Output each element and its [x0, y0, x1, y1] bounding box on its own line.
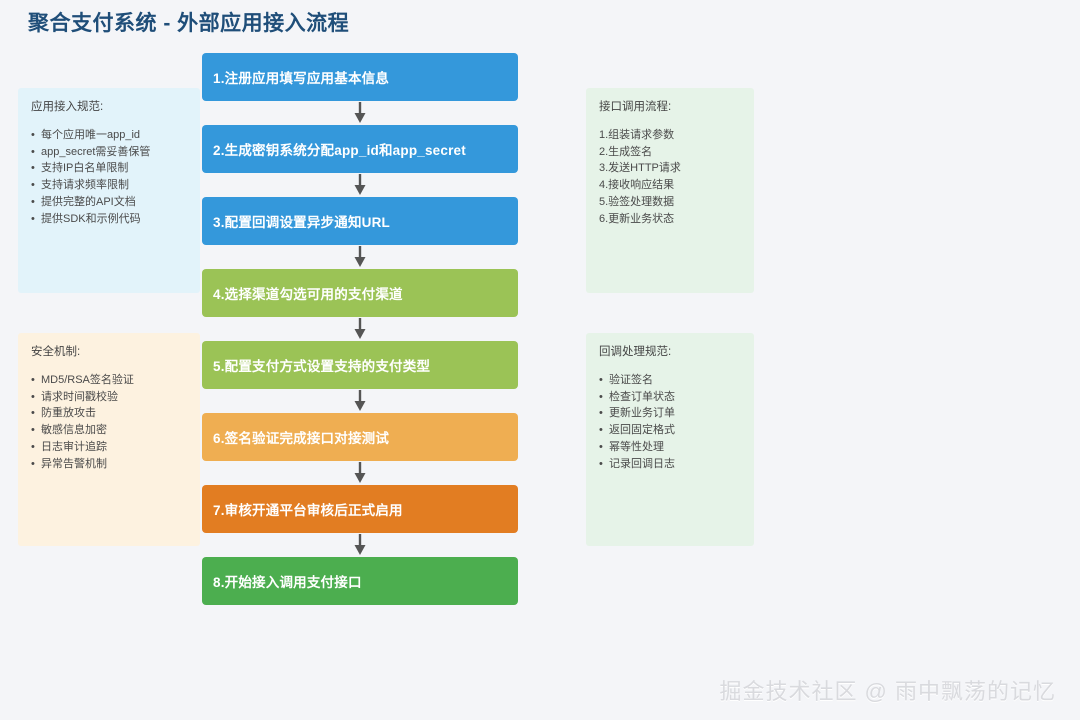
panel-security-heading: 安全机制:: [31, 345, 187, 360]
flowchart-steps: 1.注册应用填写应用基本信息 2.生成密钥系统分配app_id和app_secr…: [202, 53, 518, 605]
list-item: 返回固定格式: [599, 422, 741, 439]
list-item: app_secret需妥善保管: [31, 144, 187, 161]
list-item: 敏感信息加密: [31, 422, 187, 439]
arrow-down-icon: [352, 389, 368, 413]
list-item: 3.发送HTTP请求: [599, 160, 741, 177]
diagram-canvas: 聚合支付系统 - 外部应用接入流程 应用接入规范: 每个应用唯一app_id a…: [0, 0, 1080, 720]
flow-arrow-5-6: [202, 389, 518, 413]
list-item: 2.生成签名: [599, 144, 741, 161]
list-item: 异常告警机制: [31, 456, 187, 473]
list-item: 每个应用唯一app_id: [31, 127, 187, 144]
flow-arrow-3-4: [202, 245, 518, 269]
flow-step-1[interactable]: 1.注册应用填写应用基本信息: [202, 53, 518, 101]
flow-step-7[interactable]: 7.审核开通平台审核后正式启用: [202, 485, 518, 533]
panel-app-spec-heading: 应用接入规范:: [31, 100, 187, 115]
list-item: 记录回调日志: [599, 456, 741, 473]
list-item: 支持请求频率限制: [31, 177, 187, 194]
flow-step-8[interactable]: 8.开始接入调用支付接口: [202, 557, 518, 605]
flow-arrow-7-8: [202, 533, 518, 557]
list-item: 支持IP白名单限制: [31, 160, 187, 177]
arrow-down-icon: [352, 245, 368, 269]
list-item: 日志审计追踪: [31, 439, 187, 456]
arrow-down-icon: [352, 317, 368, 341]
panel-callback-list: 验证签名 检查订单状态 更新业务订单 返回固定格式 幂等性处理 记录回调日志: [599, 372, 741, 472]
flow-arrow-4-5: [202, 317, 518, 341]
arrow-down-icon: [352, 173, 368, 197]
panel-security: 安全机制: MD5/RSA签名验证 请求时间戳校验 防重放攻击 敏感信息加密 日…: [18, 333, 200, 546]
flow-step-4[interactable]: 4.选择渠道勾选可用的支付渠道: [202, 269, 518, 317]
panel-app-spec-list: 每个应用唯一app_id app_secret需妥善保管 支持IP白名单限制 支…: [31, 127, 187, 227]
panel-callback-heading: 回调处理规范:: [599, 345, 741, 360]
list-item: 6.更新业务状态: [599, 211, 741, 228]
list-item: 提供SDK和示例代码: [31, 211, 187, 228]
panel-api-flow-list: 1.组装请求参数 2.生成签名 3.发送HTTP请求 4.接收响应结果 5.验签…: [599, 127, 741, 227]
arrow-down-icon: [352, 101, 368, 125]
arrow-down-icon: [352, 461, 368, 485]
panel-app-spec: 应用接入规范: 每个应用唯一app_id app_secret需妥善保管 支持I…: [18, 88, 200, 293]
panel-callback: 回调处理规范: 验证签名 检查订单状态 更新业务订单 返回固定格式 幂等性处理 …: [586, 333, 754, 546]
flow-arrow-1-2: [202, 101, 518, 125]
list-item: MD5/RSA签名验证: [31, 372, 187, 389]
list-item: 5.验签处理数据: [599, 194, 741, 211]
list-item: 提供完整的API文档: [31, 194, 187, 211]
list-item: 检查订单状态: [599, 389, 741, 406]
list-item: 防重放攻击: [31, 405, 187, 422]
flow-step-6[interactable]: 6.签名验证完成接口对接测试: [202, 413, 518, 461]
panel-security-list: MD5/RSA签名验证 请求时间戳校验 防重放攻击 敏感信息加密 日志审计追踪 …: [31, 372, 187, 472]
page-title: 聚合支付系统 - 外部应用接入流程: [28, 7, 349, 37]
panel-api-flow: 接口调用流程: 1.组装请求参数 2.生成签名 3.发送HTTP请求 4.接收响…: [586, 88, 754, 293]
watermark: 掘金技术社区 @ 雨中飘荡的记忆: [719, 674, 1056, 706]
flow-step-2[interactable]: 2.生成密钥系统分配app_id和app_secret: [202, 125, 518, 173]
flow-arrow-2-3: [202, 173, 518, 197]
list-item: 1.组装请求参数: [599, 127, 741, 144]
arrow-down-icon: [352, 533, 368, 557]
list-item: 请求时间戳校验: [31, 389, 187, 406]
list-item: 幂等性处理: [599, 439, 741, 456]
list-item: 4.接收响应结果: [599, 177, 741, 194]
panel-api-flow-heading: 接口调用流程:: [599, 100, 741, 115]
list-item: 验证签名: [599, 372, 741, 389]
flow-arrow-6-7: [202, 461, 518, 485]
flow-step-5[interactable]: 5.配置支付方式设置支持的支付类型: [202, 341, 518, 389]
flow-step-3[interactable]: 3.配置回调设置异步通知URL: [202, 197, 518, 245]
list-item: 更新业务订单: [599, 405, 741, 422]
